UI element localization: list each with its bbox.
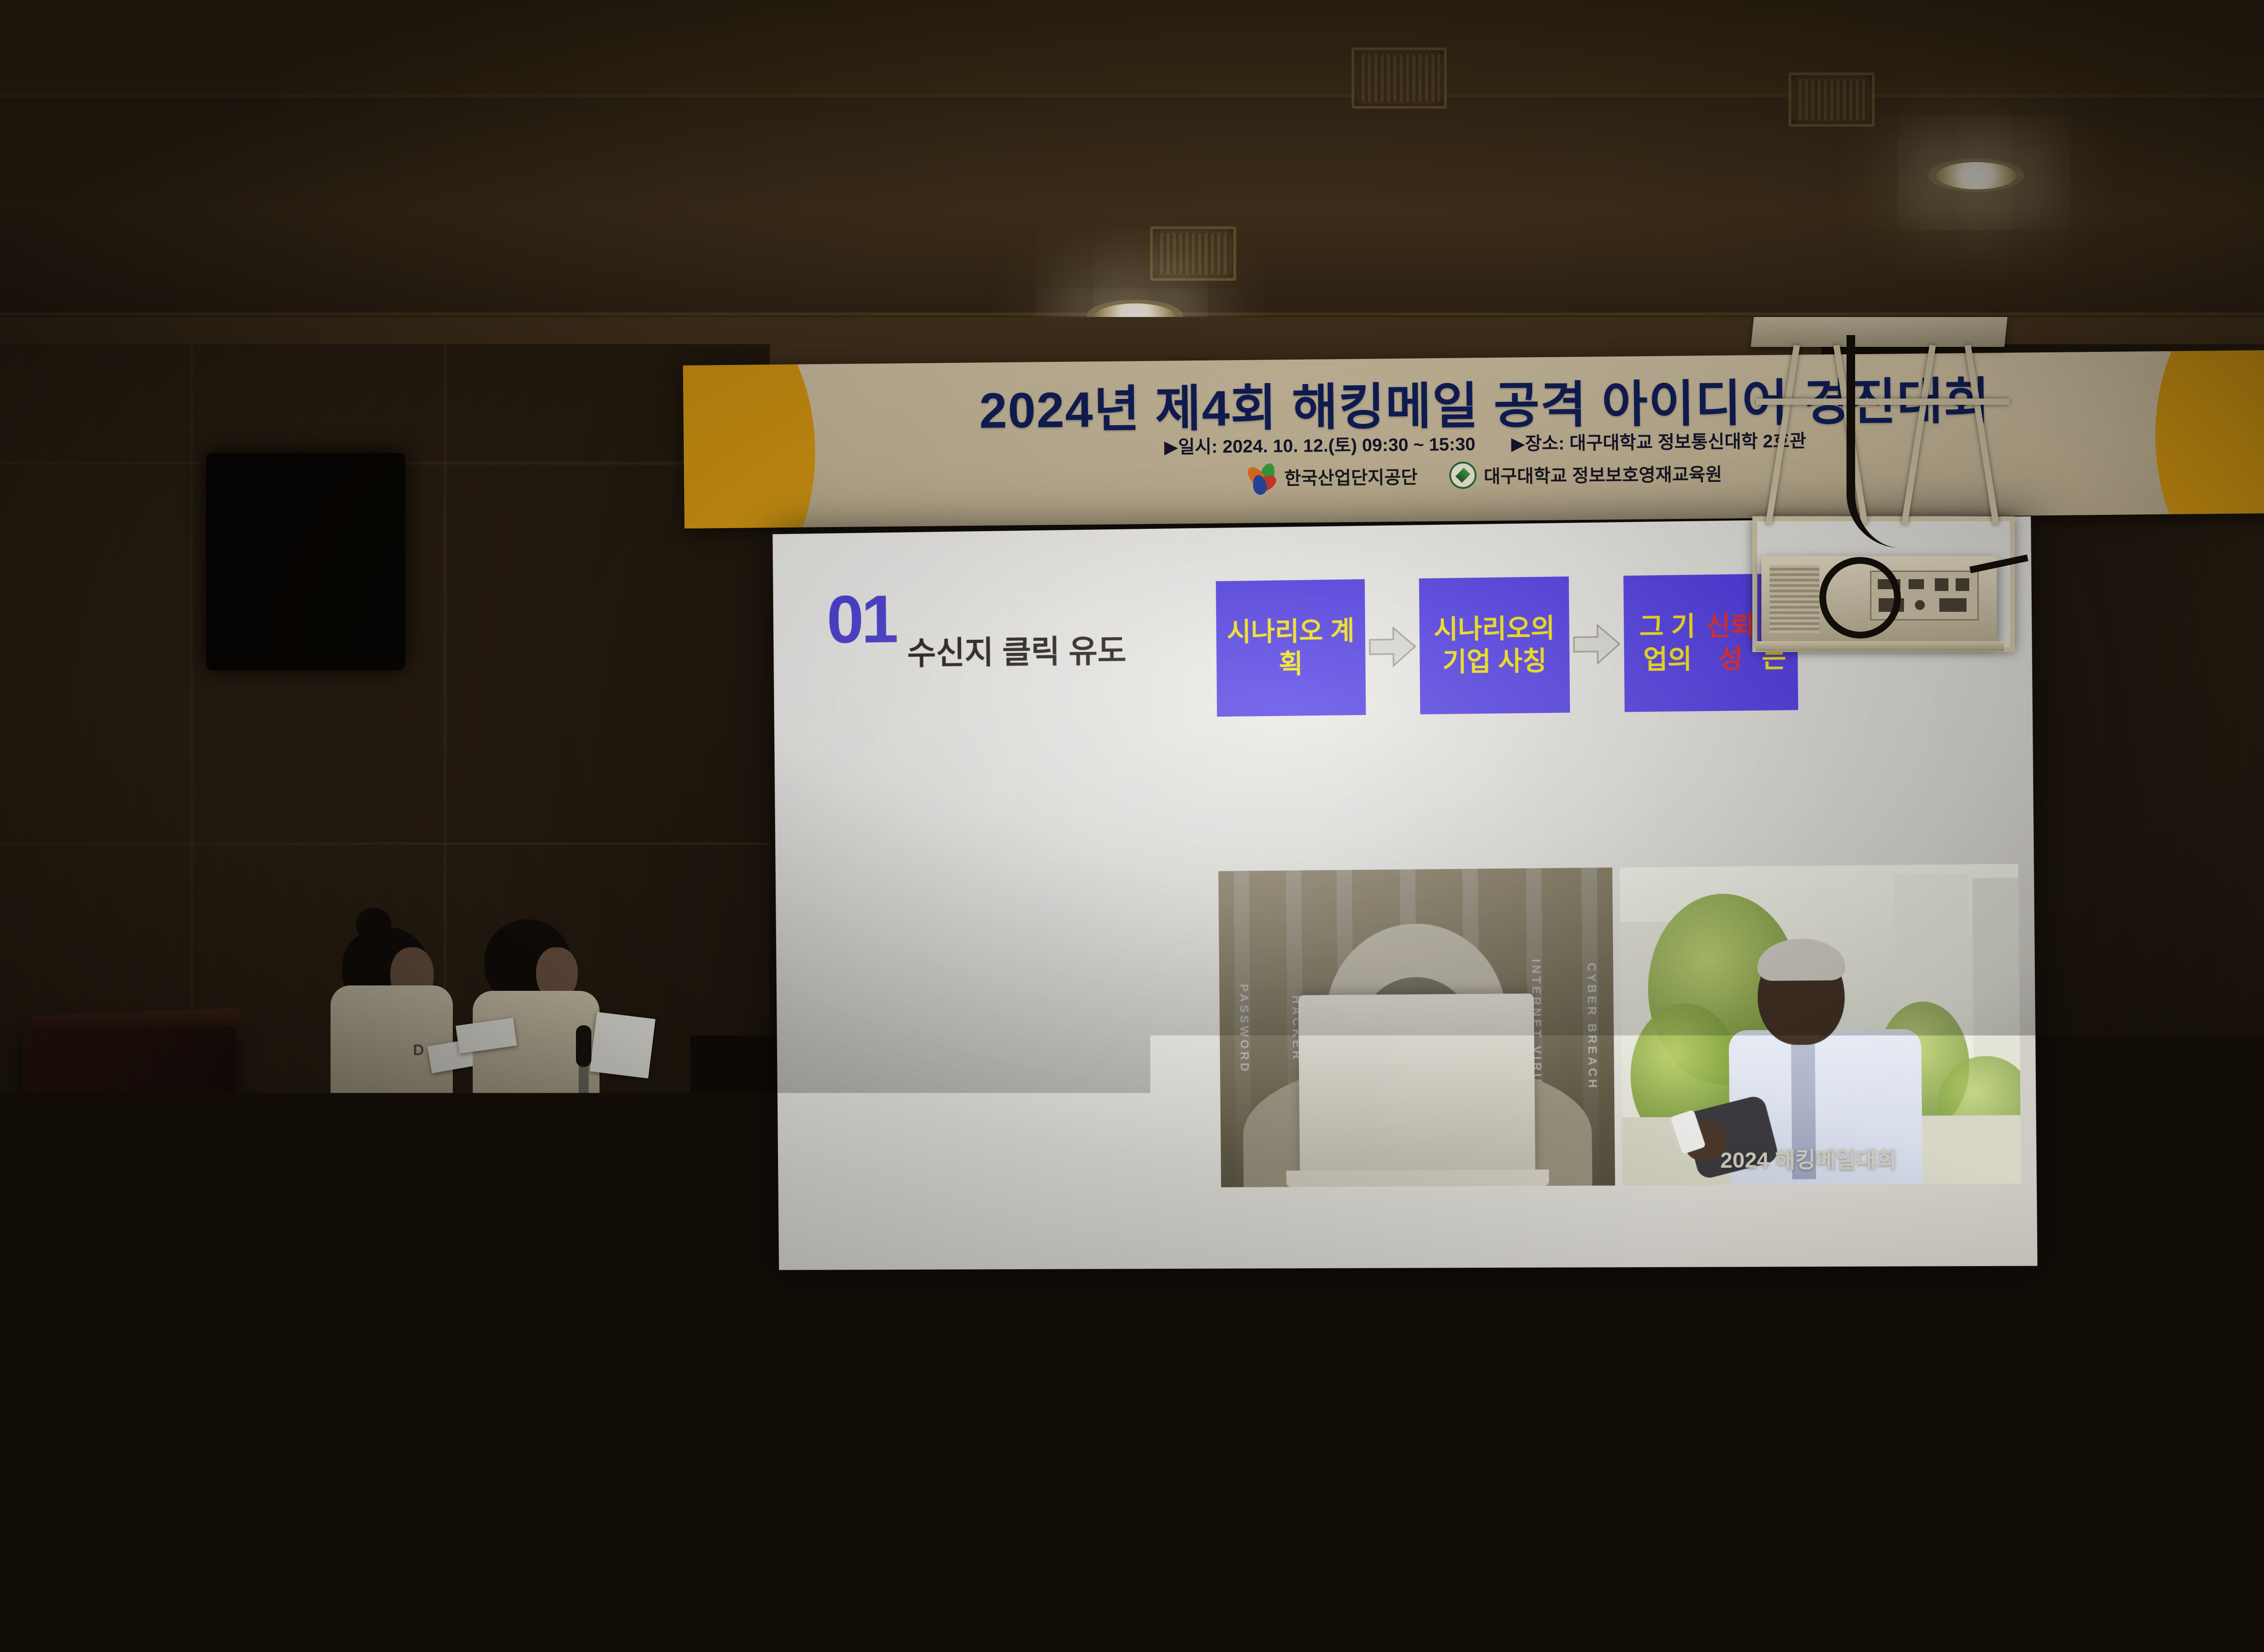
daegu-university-emblem-icon: [1449, 461, 1477, 489]
daegu-university-emblem-icon: [158, 1096, 197, 1135]
kicox-logo-icon: [1249, 463, 1277, 491]
microphone-icon: [576, 1025, 591, 1067]
flow-step-2: 시나리오의 기업 사칭: [1419, 576, 1570, 715]
ceiling-light-icon: [1936, 162, 2017, 189]
flow-step-1: 시나리오 계획: [1216, 579, 1366, 717]
right-arrow-icon: [1365, 621, 1420, 672]
businessman-photo: 2024 해킹메일대회: [1620, 864, 2021, 1186]
event-banner: 2024년 제4회 해킹메일 공격 아이디어 경진대회 ▶일시: 2024. 1…: [683, 350, 2264, 528]
seat-sign-judges: 심사위원석: [2247, 1248, 2264, 1310]
seat-sign-basic: 통기초: [2186, 1332, 2264, 1395]
hacker-photo: PASSWORD HACKER SECURITY THE DATA PASSWO…: [1218, 868, 1615, 1187]
ceiling-vent-icon: [1150, 226, 1236, 281]
presenter-script-paper: [590, 1012, 655, 1079]
projector-vent-icon: [1770, 565, 1819, 633]
auditorium-scene: 2024년 제4회 해킹메일 공격 아이디어 경진대회 ▶일시: 2024. 1…: [0, 0, 2264, 1652]
ceiling-vent-icon: [1789, 72, 1875, 127]
seat-sign-basic-label: 통기초: [2230, 1349, 2264, 1378]
wall-speaker: [206, 453, 405, 670]
slide-section-title: 수신지 클릭 유도: [907, 626, 1127, 674]
ceiling: [0, 0, 2264, 349]
slide-section-number: 01: [826, 590, 896, 649]
audience: 심사위원석 통기초: [0, 1145, 2264, 1652]
process-flow-diagram: 시나리오 계획 시나리오의 기업 사칭 그 기업의 신뢰성 있는: [1216, 573, 1798, 716]
sponsor-kicox: 한국산업단지공단: [1249, 461, 1418, 491]
right-arrow-icon: [1569, 619, 1624, 670]
ceiling-vent-icon: [1352, 48, 1447, 109]
projector-shelf: [1756, 641, 2004, 651]
slide-photos: PASSWORD HACKER SECURITY THE DATA PASSWO…: [1218, 864, 2021, 1187]
projector-cable-loop: [1819, 557, 1901, 639]
ceiling-projector-assembly: [1734, 317, 2024, 661]
banner-date: ▶일시: 2024. 10. 12.(토) 09:30 ~ 15:30: [1164, 434, 1475, 457]
sponsor-kicox-label: 한국산업단지공단: [1284, 462, 1418, 490]
sponsor-daegu-university: 대구대학교 정보보호영재교육원: [1449, 459, 1722, 489]
sponsor-daegu-label: 대구대학교 정보보호영재교육원: [1484, 460, 1722, 488]
projector-cable: [1847, 335, 1901, 548]
